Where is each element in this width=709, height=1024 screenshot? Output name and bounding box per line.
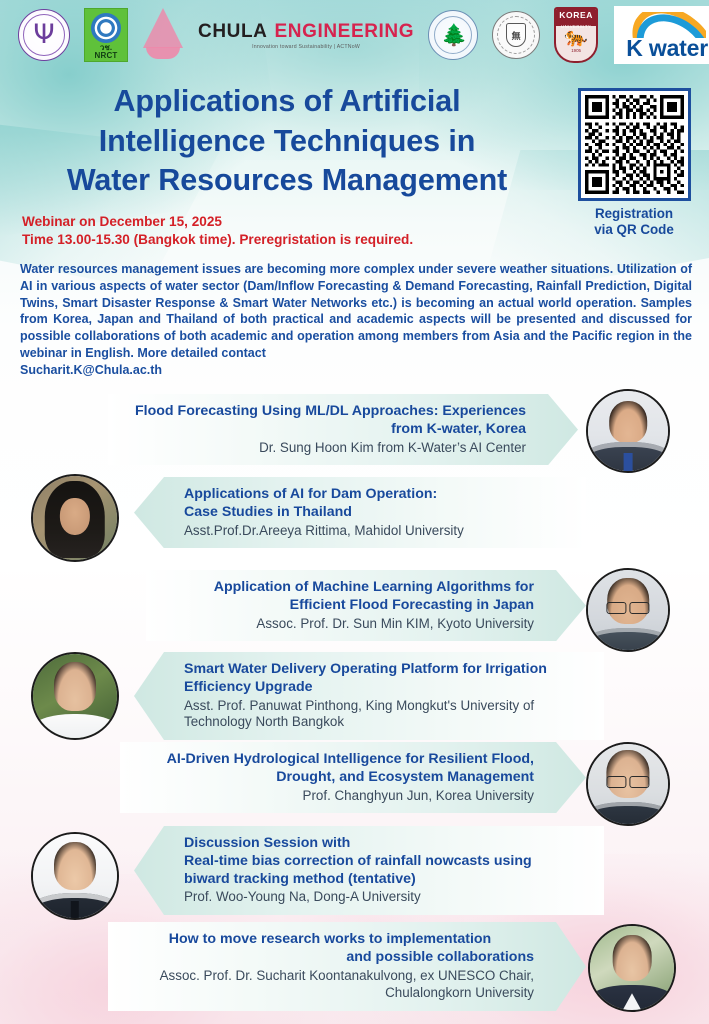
qr-code-icon[interactable]: [585, 95, 684, 194]
intro-body-text: Water resources management issues are be…: [20, 262, 692, 360]
qr-caption-line-2: via QR Code: [573, 222, 695, 238]
talk-title-5-line-2: Drought, and Ecosystem Management: [138, 769, 534, 787]
talk-speaker-3: Assoc. Prof. Dr. Sun Min KIM, Kyoto Univ…: [164, 616, 534, 633]
dong-a-university-logo: 無: [492, 11, 540, 59]
talk-speaker-1: Dr. Sung Hoon Kim from K-Water’s AI Cent…: [126, 440, 526, 457]
talk-banner-6: Discussion Session with Real-time bias c…: [134, 826, 604, 915]
talk-title-6-line-3: biward tracking method (tentative): [184, 871, 586, 889]
talk-title-1-line-2: from K-water, Korea: [126, 421, 526, 439]
webinar-date: Webinar on December 15, 2025: [22, 213, 562, 231]
nrct-logo: วช. NRCT: [84, 8, 128, 62]
eyeglasses-detail: [606, 602, 649, 612]
kyoto-university-logo: [428, 10, 478, 60]
talk-title-4-line-2: Efficiency Upgrade: [184, 679, 586, 697]
k-water-arc-icon: [628, 12, 706, 38]
talk-banner-3: Application of Machine Learning Algorith…: [146, 570, 586, 641]
photo-areeya-rittima: [31, 474, 119, 562]
eyeglasses-detail: [606, 776, 649, 786]
talk-banner-4: Smart Water Delivery Operating Platform …: [134, 652, 604, 740]
talk-speaker-4: Asst. Prof. Panuwat Pinthong, King Mongk…: [184, 698, 586, 732]
talk-title-5-line-1: AI-Driven Hydrological Intelligence for …: [138, 751, 534, 769]
talk-title-6-line-2: Real-time bias correction of rainfall no…: [184, 853, 586, 871]
talk-title-6-line-1: Discussion Session with: [184, 835, 586, 853]
registration-qr-block[interactable]: Registration via QR Code: [573, 88, 695, 238]
page-title: Applications of Artificial Intelligence …: [22, 82, 552, 201]
nrct-abbr-label: NRCT: [94, 52, 117, 60]
poster-title-line-2: Intelligence Techniques in: [22, 122, 552, 162]
webinar-schedule: Webinar on December 15, 2025 Time 13.00-…: [22, 213, 562, 248]
k-water-wordmark: K water: [626, 37, 708, 60]
nrct-wheel-icon: [91, 13, 121, 43]
talk-banner-7: How to move research works to implementa…: [108, 922, 586, 1011]
talk-banner-2: Applications of AI for Dam Operation: Ca…: [134, 477, 586, 548]
talk-title-7-line-1: How to move research works to implementa…: [126, 931, 534, 949]
photo-changhyun-jun: [586, 742, 670, 826]
talk-speaker-7-line-1: Assoc. Prof. Dr. Sucharit Koontanakulvon…: [126, 968, 534, 985]
talk-speaker-2: Asst.Prof.Dr.Areeya Rittima, Mahidol Uni…: [184, 523, 568, 540]
mahidol-trident-icon: [29, 18, 59, 52]
talk-title-2-line-2: Case Studies in Thailand: [184, 504, 568, 522]
photo-panuwat-pinthong: [31, 652, 119, 740]
chula-engineering-tagline: Innovation toward Sustainability | ACTNo…: [252, 44, 360, 50]
qr-caption-line-1: Registration: [573, 206, 695, 222]
photo-sung-hoon-kim: [586, 389, 670, 473]
korea-tiger-icon: [564, 28, 588, 47]
chula-engineering-logo: CHULA ENGINEERING Innovation toward Sust…: [198, 21, 414, 50]
talk-title-2-line-1: Applications of AI for Dam Operation:: [184, 486, 568, 504]
necktie-detail: [71, 901, 79, 918]
talk-title-3-line-1: Application of Machine Learning Algorith…: [164, 579, 534, 597]
poster-title-line-1: Applications of Artificial: [22, 82, 552, 122]
korea-university-year: 1905: [571, 48, 581, 53]
talk-title-4-line-1: Smart Water Delivery Operating Platform …: [184, 661, 586, 679]
talk-banner-5: AI-Driven Hydrological Intelligence for …: [120, 742, 586, 813]
necktie-detail: [624, 453, 633, 471]
korea-university-name: KOREA: [559, 10, 593, 20]
chulalongkorn-emblem-logo: [140, 6, 186, 64]
k-water-logo: K water: [614, 6, 709, 64]
talk-title-1-line-1: Flood Forecasting Using ML/DL Approaches…: [126, 403, 526, 421]
webinar-poster: วช. NRCT CHULA ENGINEERING Innovation to…: [0, 0, 709, 1024]
poster-title-line-3: Water Resources Management: [22, 161, 552, 201]
photo-woo-young-na: [31, 832, 119, 920]
photo-sun-min-kim: [586, 568, 670, 652]
chula-wordmark: CHULA: [198, 21, 268, 43]
kyoto-tree-icon: [441, 23, 465, 47]
korea-university-logo: KOREA UNIVERSITY 1905: [554, 7, 598, 63]
talk-title-3-line-2: Efficient Flood Forecasting in Japan: [164, 597, 534, 615]
talk-speaker-5: Prof. Changhyun Jun, Korea University: [138, 788, 534, 805]
talk-speaker-6: Prof. Woo-Young Na, Dong-A University: [184, 889, 586, 906]
photo-sucharit-koontanakulvong: [588, 924, 676, 1012]
engineering-wordmark: ENGINEERING: [275, 21, 415, 43]
intro-paragraph: Water resources management issues are be…: [20, 261, 692, 379]
contact-email: Sucharit.K@Chula.ac.th: [20, 362, 692, 379]
dong-a-shield-icon: 無: [506, 23, 526, 47]
mahidol-university-logo: [18, 9, 70, 61]
sponsor-logo-bar: วช. NRCT CHULA ENGINEERING Innovation to…: [0, 0, 709, 70]
talk-banner-1: Flood Forecasting Using ML/DL Approaches…: [108, 394, 578, 465]
webinar-time: Time 13.00-15.30 (Bangkok time). Preregr…: [22, 231, 562, 249]
qr-code-frame[interactable]: [578, 88, 691, 201]
talk-speaker-7-line-2: Chulalongkorn University: [126, 985, 534, 1002]
talk-title-7-line-2: and possible collaborations: [126, 949, 534, 967]
